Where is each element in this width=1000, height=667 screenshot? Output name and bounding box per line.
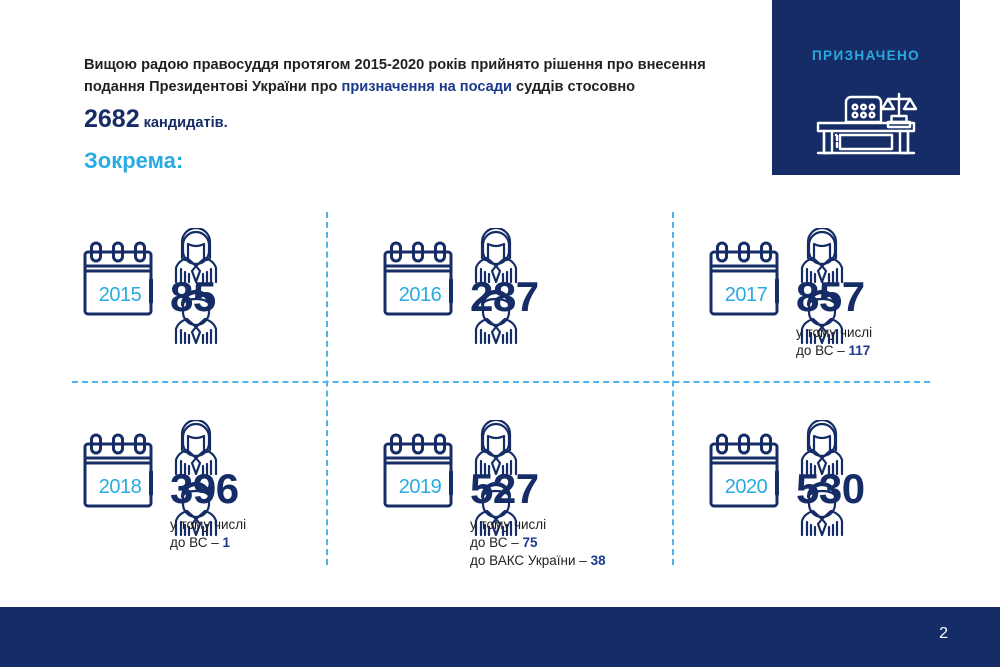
intro-block: Вищою радою правосуддя протягом 2015-202… — [84, 54, 744, 136]
year-label: 2017 — [708, 284, 784, 307]
year-count: 85 — [170, 276, 216, 318]
page-number: 2 — [939, 625, 948, 643]
year-cell-note-line: до ВС – 1 — [170, 534, 246, 552]
year-cell-note-line: до ВС – 75 — [470, 534, 606, 552]
year-cell-note-line: у тому числі — [470, 516, 606, 534]
year-label: 2019 — [382, 476, 458, 499]
intro-line-1: Вищою радою правосуддя протягом 2015-202… — [84, 57, 706, 73]
intro-total-line: 2682кандидатів. — [84, 106, 744, 136]
appointed-badge-label: ПРИЗНАЧЕНО — [772, 48, 960, 63]
year-cell-notes: у тому числідо ВС – 117 — [796, 324, 872, 360]
judge-male-icon — [470, 332, 522, 349]
calendar-icon: 2016 — [382, 240, 458, 325]
judge-bench-scales-icon — [810, 72, 922, 161]
intro-line-2-pre: подання Президентові України про — [84, 79, 342, 95]
year-cell-note-line: у тому числі — [170, 516, 246, 534]
year-cell-notes: у тому числідо ВС – 75до ВАКС України – … — [470, 516, 606, 570]
year-count: 396 — [170, 468, 239, 510]
year-count: 530 — [796, 468, 865, 510]
year-count: 527 — [470, 468, 539, 510]
section-label: Зокрема: — [84, 148, 183, 174]
calendar-icon: 2017 — [708, 240, 784, 325]
footer-bar: 2 — [0, 607, 1000, 667]
slide-root: ПРИЗНАЧЕНО — [0, 0, 1000, 667]
vertical-divider-2 — [672, 212, 674, 565]
intro-line-2-post: суддів стосовно — [512, 79, 635, 95]
judge-male-icon — [796, 524, 848, 541]
intro-paragraph: Вищою радою правосуддя протягом 2015-202… — [84, 54, 744, 98]
year-label: 2020 — [708, 476, 784, 499]
year-label: 2018 — [82, 476, 158, 499]
calendar-icon: 2019 — [382, 432, 458, 517]
calendar-icon: 2018 — [82, 432, 158, 517]
intro-highlight: призначення на посади — [342, 79, 512, 95]
intro-total-unit: кандидатів. — [144, 115, 228, 131]
calendar-icon: 2020 — [708, 432, 784, 517]
year-cell-notes: у тому числідо ВС – 1 — [170, 516, 246, 552]
year-label: 2016 — [382, 284, 458, 307]
intro-total-number: 2682 — [84, 105, 140, 133]
year-label: 2015 — [82, 284, 158, 307]
year-count: 857 — [796, 276, 865, 318]
horizontal-divider — [72, 381, 930, 383]
vertical-divider-1 — [326, 212, 328, 565]
year-cell-note-line: у тому числі — [796, 324, 872, 342]
year-count: 287 — [470, 276, 539, 318]
appointed-badge: ПРИЗНАЧЕНО — [772, 0, 960, 175]
judge-male-icon — [170, 332, 222, 349]
year-cell-note-line: до ВС – 117 — [796, 342, 872, 360]
year-cell-note-line: до ВАКС України – 38 — [470, 552, 606, 570]
calendar-icon: 2015 — [82, 240, 158, 325]
